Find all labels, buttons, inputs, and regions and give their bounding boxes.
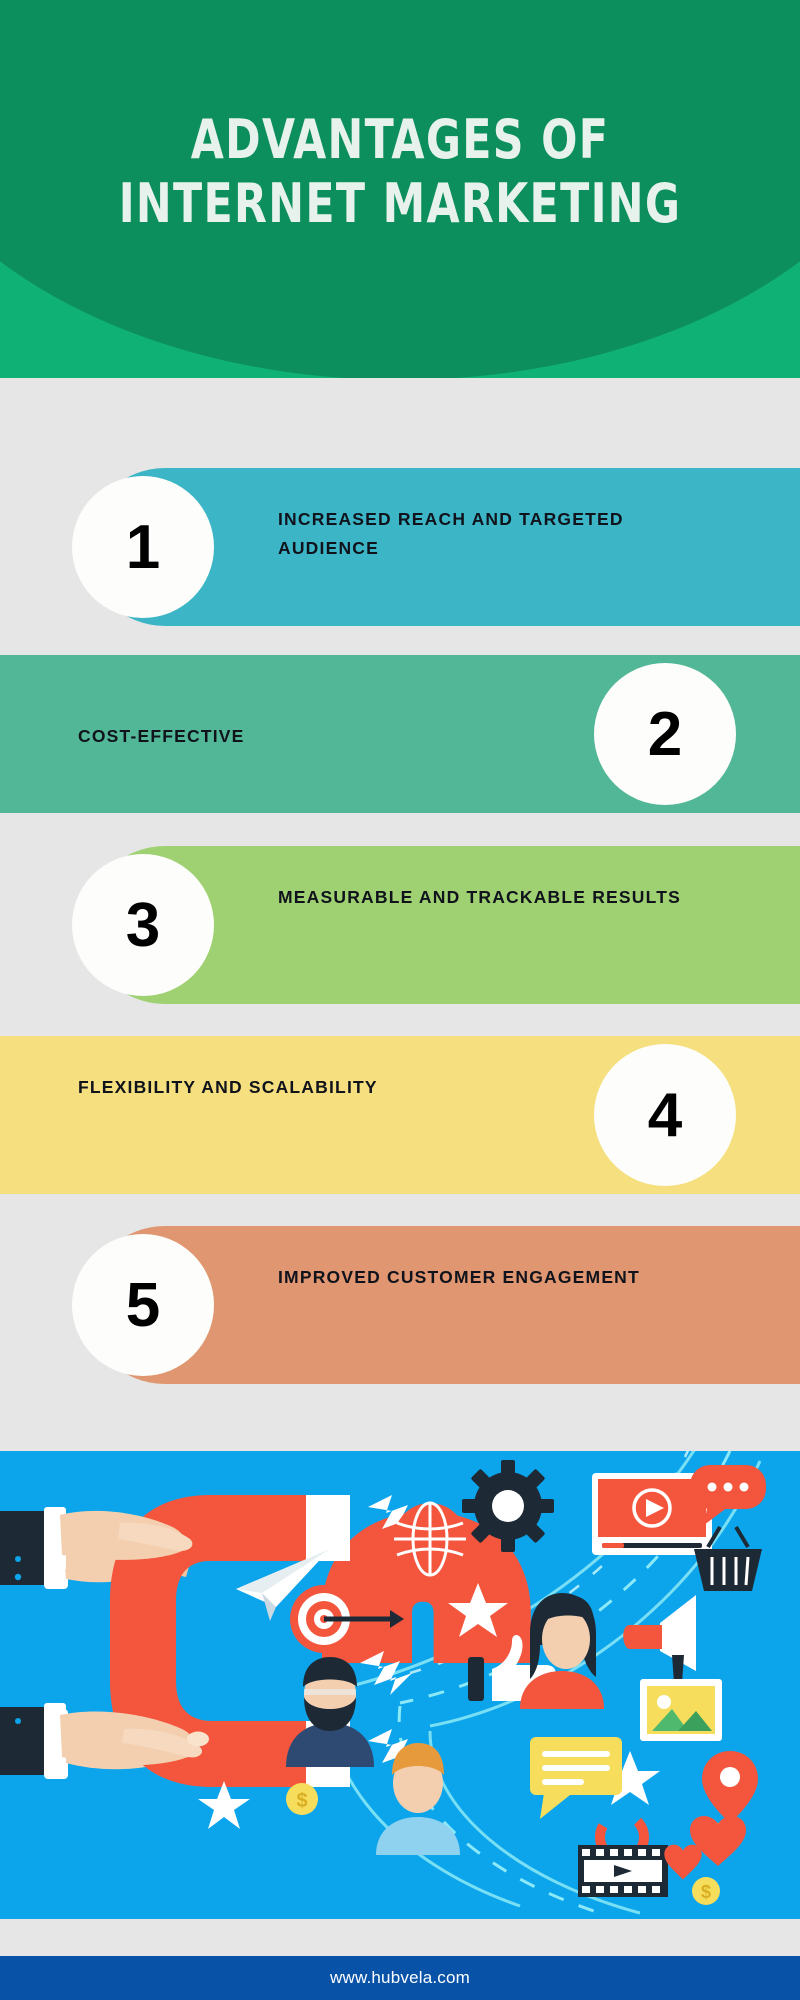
svg-text:$: $ — [701, 1882, 711, 1902]
globe-icon — [394, 1503, 466, 1575]
advantage-number-circle-1: 1 — [72, 476, 214, 618]
header-banner: ADVANTAGES OF INTERNET MARKETING — [0, 0, 800, 378]
marketing-illustration: $ $ $ — [0, 1451, 800, 1919]
page-title-line-2: INTERNET MARKETING — [48, 172, 752, 236]
advantage-number-circle-2: 2 — [594, 663, 736, 805]
advantage-label-1: INCREASED REACH AND TARGETED AUDIENCE — [278, 505, 708, 563]
footer-bar: www.hubvela.com — [0, 1956, 800, 2000]
svg-text:$: $ — [296, 1790, 307, 1812]
advantage-number-circle-5: 5 — [72, 1234, 214, 1376]
footer-url[interactable]: www.hubvela.com — [330, 1968, 470, 1988]
advantage-number-circle-4: 4 — [594, 1044, 736, 1186]
page-title: ADVANTAGES OF INTERNET MARKETING — [48, 108, 752, 237]
advantage-number-5: 5 — [126, 1270, 160, 1341]
advantage-number-circle-3: 3 — [72, 854, 214, 996]
advantage-label-3: MEASURABLE AND TRACKABLE RESULTS — [278, 883, 708, 912]
advantage-number-4: 4 — [648, 1080, 682, 1151]
infographic-page: ADVANTAGES OF INTERNET MARKETING 1 INCRE… — [0, 0, 800, 2000]
gear-icon — [462, 1460, 554, 1552]
photo-icon — [640, 1679, 722, 1741]
advantage-label-4: FLEXIBILITY AND SCALABILITY — [78, 1073, 498, 1102]
advantage-label-2: COST-EFFECTIVE — [78, 722, 498, 751]
advantage-label-5: IMPROVED CUSTOMER ENGAGEMENT — [278, 1263, 708, 1292]
film-strip-icon — [578, 1845, 668, 1897]
page-title-line-1: ADVANTAGES OF — [48, 108, 752, 172]
advantage-number-2: 2 — [648, 699, 682, 770]
advantage-number-3: 3 — [126, 890, 160, 961]
advantage-number-1: 1 — [126, 512, 160, 583]
